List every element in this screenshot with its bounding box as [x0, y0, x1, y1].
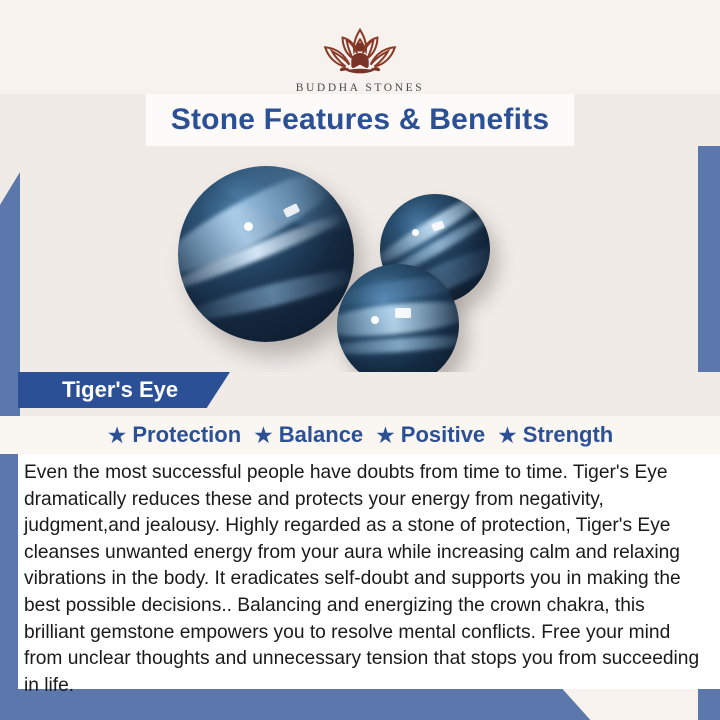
- brand-header: BUDDHA STONES: [0, 0, 720, 98]
- benefits-row: ★ Protection ★ Balance ★ Positive ★ Stre…: [0, 416, 720, 454]
- gemstone-sphere-small: [337, 264, 459, 372]
- star-icon: ★: [497, 424, 518, 447]
- gemstone-photo: [0, 146, 720, 372]
- benefit-item-strength: ★ Strength: [493, 422, 617, 448]
- description-panel: Even the most successful people have dou…: [18, 454, 720, 689]
- star-icon: ★: [107, 424, 128, 447]
- star-icon: ★: [375, 424, 396, 447]
- brand-name: BUDDHA STONES: [296, 82, 424, 94]
- stone-name: Tiger's Eye: [18, 377, 178, 403]
- benefit-item-positive: ★ Positive: [371, 422, 489, 448]
- stone-features-poster: BUDDHA STONES Stone Features & Benefits: [0, 0, 720, 720]
- benefit-item-balance: ★ Balance: [249, 422, 367, 448]
- stone-name-banner: Tiger's Eye: [18, 372, 230, 408]
- page-title-box: Stone Features & Benefits: [146, 94, 574, 146]
- star-icon: ★: [253, 424, 274, 447]
- gemstone-sphere-large: [178, 166, 354, 342]
- benefit-label-protection: Protection: [132, 422, 241, 448]
- page-title: Stone Features & Benefits: [171, 103, 549, 137]
- benefit-label-positive: Positive: [401, 422, 485, 448]
- benefit-label-balance: Balance: [279, 422, 363, 448]
- benefit-item-protection: ★ Protection: [103, 422, 245, 448]
- description-text: Even the most successful people have dou…: [24, 460, 710, 699]
- benefit-label-strength: Strength: [523, 422, 613, 448]
- lotus-meditation-icon: [300, 24, 420, 84]
